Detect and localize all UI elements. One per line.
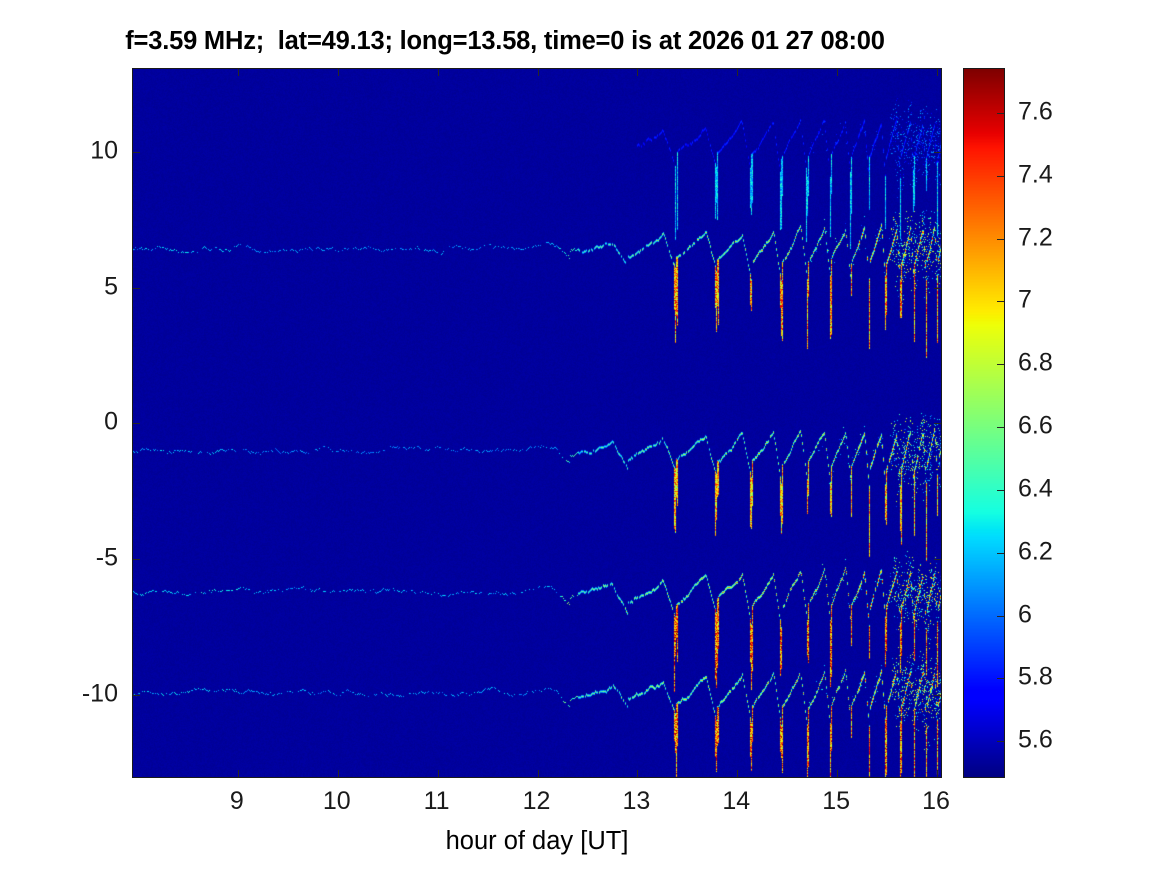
colorbar-tick-label-7.4: 7.4 <box>1018 160 1053 189</box>
colorbar-tick-5.6 <box>997 741 1004 742</box>
colorbar-tick-6.2 <box>997 553 1004 554</box>
y-tick-0 <box>133 423 140 424</box>
x-tick-label-14: 14 <box>722 787 750 816</box>
x-tick-12 <box>538 69 539 76</box>
colorbar-tick-6 <box>997 616 1004 617</box>
x-tick-14 <box>737 770 738 777</box>
x-tick-label-12: 12 <box>523 787 551 816</box>
colorbar-tick-label-7.6: 7.6 <box>1018 97 1053 126</box>
x-tick-label-13: 13 <box>622 787 650 816</box>
x-tick-13 <box>637 770 638 777</box>
spectrogram-image <box>133 69 942 778</box>
x-tick-13 <box>637 69 638 76</box>
y-tick-label-minus5: -5 <box>96 544 118 573</box>
colorbar-tick-label-6.8: 6.8 <box>1018 349 1053 378</box>
y-tick-10 <box>934 152 941 153</box>
colorbar-tick-label-6.4: 6.4 <box>1018 474 1053 503</box>
colorbar-tick-5.8 <box>997 678 1004 679</box>
colorbar-tick-6.8 <box>997 364 1004 365</box>
x-tick-label-11: 11 <box>424 787 450 816</box>
y-tick--10 <box>133 695 140 696</box>
x-tick-14 <box>737 69 738 76</box>
colorbar-tick-label-6: 6 <box>1018 600 1032 629</box>
x-tick-16 <box>937 770 938 777</box>
x-tick-9 <box>238 69 239 76</box>
colorbar-tick-7.2 <box>997 239 1004 240</box>
x-axis-label: hour of day [UT] <box>132 827 942 856</box>
x-tick-16 <box>937 69 938 76</box>
y-tick-0 <box>934 423 941 424</box>
figure-canvas: f=3.59 MHz; lat=49.13; long=13.58, time=… <box>0 0 1167 875</box>
colorbar-tick-7.4 <box>997 176 1004 177</box>
x-tick-11 <box>438 770 439 777</box>
y-tick-label-0: 0 <box>104 408 118 437</box>
y-tick-label-minus10: -10 <box>82 679 118 708</box>
y-tick-5 <box>133 288 140 289</box>
y-tick-label-10: 10 <box>90 136 118 165</box>
x-tick-10 <box>338 770 339 777</box>
x-tick-11 <box>438 69 439 76</box>
colorbar-tick-7 <box>997 301 1004 302</box>
chart-title: f=3.59 MHz; lat=49.13; long=13.58, time=… <box>0 27 1010 56</box>
x-tick-9 <box>238 770 239 777</box>
x-tick-15 <box>837 770 838 777</box>
colorbar-tick-label-5.6: 5.6 <box>1018 726 1053 755</box>
colorbar-tick-7.6 <box>997 113 1004 114</box>
colorbar-tick-label-7.2: 7.2 <box>1018 223 1053 252</box>
y-tick-10 <box>133 152 140 153</box>
x-tick-label-15: 15 <box>822 787 850 816</box>
spectrogram-axes <box>132 68 942 778</box>
x-tick-label-9: 9 <box>230 787 244 816</box>
x-tick-label-10: 10 <box>323 787 351 816</box>
x-tick-10 <box>338 69 339 76</box>
y-tick--5 <box>133 559 140 560</box>
colorbar-tick-6.4 <box>997 490 1004 491</box>
y-tick--10 <box>934 695 941 696</box>
x-tick-label-16: 16 <box>922 787 950 816</box>
colorbar-tick-label-5.8: 5.8 <box>1018 663 1053 692</box>
colorbar-tick-label-6.2: 6.2 <box>1018 537 1053 566</box>
colorbar-tick-6.6 <box>997 427 1004 428</box>
x-tick-12 <box>538 770 539 777</box>
y-tick--5 <box>934 559 941 560</box>
y-tick-label-5: 5 <box>104 272 118 301</box>
y-tick-5 <box>934 288 941 289</box>
colorbar-tick-label-6.6: 6.6 <box>1018 412 1053 441</box>
colorbar-tick-label-7: 7 <box>1018 286 1032 315</box>
colorbar <box>963 68 1005 778</box>
x-tick-15 <box>837 69 838 76</box>
